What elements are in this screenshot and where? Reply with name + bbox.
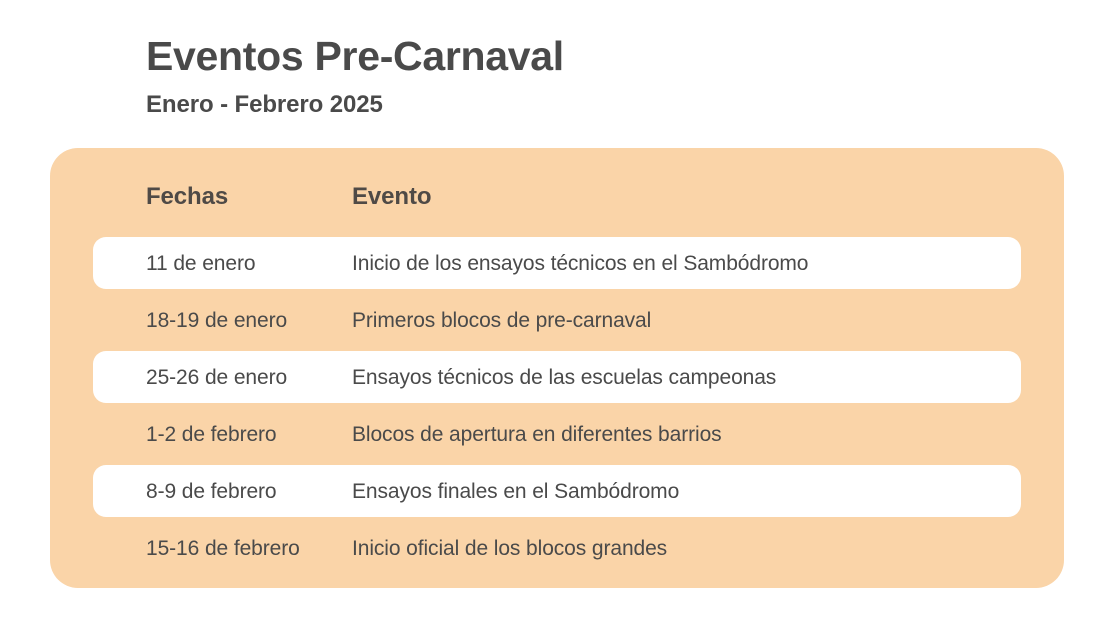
cell-date: 8-9 de febrero [93,481,351,502]
page-subtitle: Enero - Febrero 2025 [146,78,1046,119]
page-root: Eventos Pre-Carnaval Enero - Febrero 202… [0,0,1114,632]
heading-block: Eventos Pre-Carnaval Enero - Febrero 202… [146,34,1046,119]
table-row: 18-19 de enero Primeros blocos de pre-ca… [93,294,1021,346]
cell-event: Primeros blocos de pre-carnaval [351,310,1021,331]
table-row: 25-26 de enero Ensayos técnicos de las e… [93,351,1021,403]
table-row: 8-9 de febrero Ensayos finales en el Sam… [93,465,1021,517]
column-header-fechas: Fechas [93,183,351,211]
schedule-card: Fechas Evento 11 de enero Inicio de los … [50,148,1064,588]
page-title: Eventos Pre-Carnaval [146,34,1046,78]
cell-date: 11 de enero [93,253,351,274]
cell-event: Ensayos técnicos de las escuelas campeon… [351,367,1021,388]
table-row: 1-2 de febrero Blocos de apertura en dif… [93,408,1021,460]
table-body: 11 de enero Inicio de los ensayos técnic… [93,237,1021,579]
column-header-evento: Evento [351,183,1021,211]
cell-event: Inicio oficial de los blocos grandes [351,538,1021,559]
cell-event: Blocos de apertura en diferentes barrios [351,424,1021,445]
cell-event: Ensayos finales en el Sambódromo [351,481,1021,502]
cell-date: 18-19 de enero [93,310,351,331]
cell-date: 25-26 de enero [93,367,351,388]
table-row: 15-16 de febrero Inicio oficial de los b… [93,522,1021,574]
cell-date: 15-16 de febrero [93,538,351,559]
cell-date: 1-2 de febrero [93,424,351,445]
schedule-table: Fechas Evento 11 de enero Inicio de los … [50,148,1064,588]
table-header-row: Fechas Evento [93,172,1021,222]
table-row: 11 de enero Inicio de los ensayos técnic… [93,237,1021,289]
cell-event: Inicio de los ensayos técnicos en el Sam… [351,253,1021,274]
